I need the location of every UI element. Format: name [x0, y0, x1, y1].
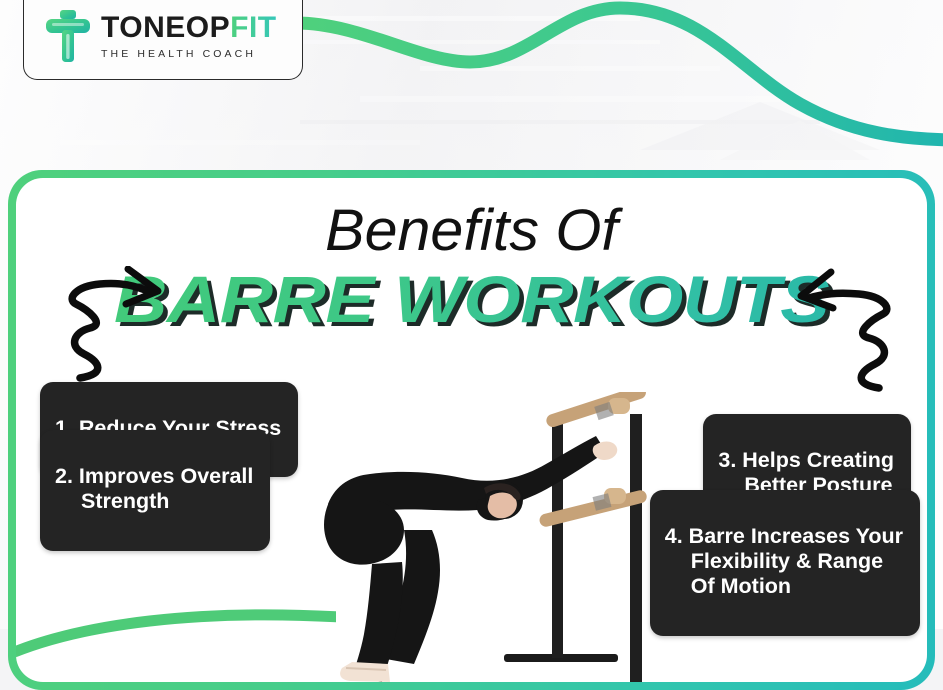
person-figure	[324, 436, 606, 682]
bottom-swoosh-decoration	[16, 564, 336, 682]
brand-logo-badge[interactable]: TONEOPFIT THE HEALTH COACH	[23, 0, 303, 80]
squiggly-arrow-right-icon	[54, 266, 176, 388]
benefit-chip-4[interactable]: 4. Barre Increases Your Flexibility & Ra…	[650, 490, 920, 636]
toneopfit-logo-icon	[46, 10, 90, 62]
benefit-chip-2-label: 2. Improves Overall Strength	[55, 464, 253, 514]
logo-wordmark: TONEOPFIT	[101, 13, 277, 43]
benefit-chip-4-label: 4. Barre Increases Your Flexibility & Ra…	[665, 524, 903, 599]
ballet-shoe	[340, 662, 390, 682]
page-title-line1: Benefits Of	[16, 202, 927, 260]
logo-word-fit: FIT	[230, 11, 277, 44]
logo-text-group: TONEOPFIT THE HEALTH COACH	[101, 13, 277, 60]
squiggly-arrow-left-icon	[783, 266, 905, 398]
logo-word-toneop: TONEOP	[101, 11, 230, 44]
logo-tagline: THE HEALTH COACH	[101, 48, 277, 60]
benefit-chip-2[interactable]: 2. Improves Overall Strength	[40, 430, 270, 551]
card-inner-surface: Benefits Of BARRE WORKOUTS	[16, 178, 927, 682]
main-content-card: Benefits Of BARRE WORKOUTS	[8, 170, 935, 690]
barre-stretch-photo	[308, 392, 670, 682]
